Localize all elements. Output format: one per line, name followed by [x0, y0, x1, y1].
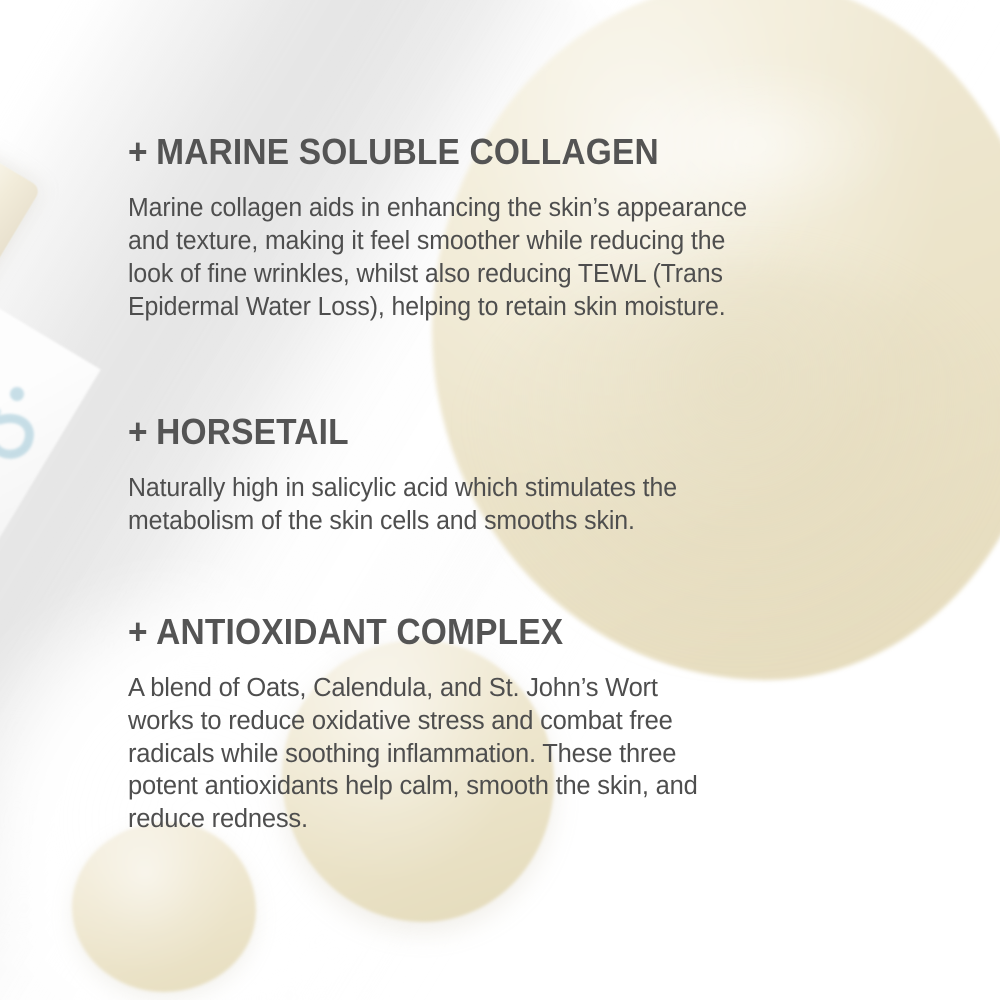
plus-icon: + [128, 411, 148, 452]
plus-icon: + [128, 611, 148, 652]
section-horsetail: +HORSETAIL Naturally high in salicylic a… [128, 412, 918, 538]
section-heading-text: HORSETAIL [156, 411, 349, 452]
product-bottle [0, 112, 41, 531]
product-packaging-card [0, 230, 101, 626]
section-body-text: Naturally high in salicylic acid which s… [128, 472, 898, 538]
ingredient-panel: +MARINE SOLUBLE COLLAGEN Marine collagen… [0, 0, 1000, 1000]
section-heading: +ANTIOXIDANT COMPLEX [128, 612, 863, 652]
section-heading-text: MARINE SOLUBLE COLLAGEN [156, 131, 659, 172]
section-heading: +MARINE SOLUBLE COLLAGEN [128, 132, 863, 172]
section-heading-text: ANTIOXIDANT COMPLEX [156, 611, 563, 652]
section-body-text: Marine collagen aids in enhancing the sk… [128, 192, 898, 323]
section-body-text: A blend of Oats, Calendula, and St. John… [128, 672, 918, 835]
plus-icon: + [128, 131, 148, 172]
content-column: +MARINE SOLUBLE COLLAGEN Marine collagen… [128, 0, 918, 1000]
section-marine-soluble-collagen: +MARINE SOLUBLE COLLAGEN Marine collagen… [128, 132, 918, 323]
section-antioxidant-complex: +ANTIOXIDANT COMPLEX A blend of Oats, Ca… [128, 612, 918, 835]
brand-mark-icon [0, 378, 48, 474]
section-heading: +HORSETAIL [128, 412, 863, 452]
